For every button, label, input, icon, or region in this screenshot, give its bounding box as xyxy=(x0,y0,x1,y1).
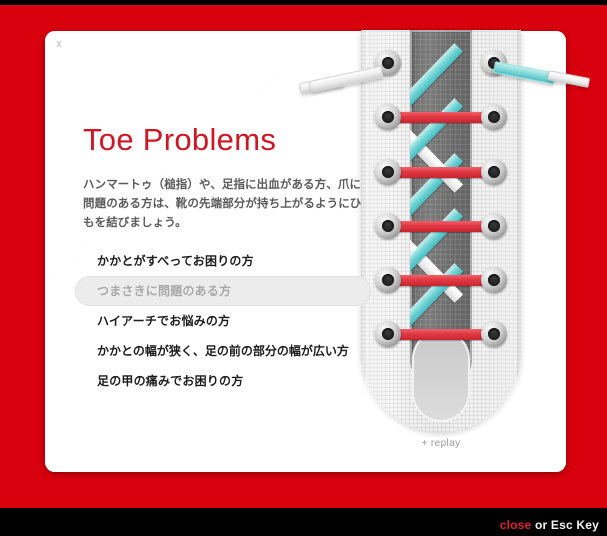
lace-diagonal-cyan-3 xyxy=(410,98,463,161)
eyelet-right-4 xyxy=(481,213,507,239)
eyelet-right-3 xyxy=(481,159,507,185)
lace-diagonal-cyan-1 xyxy=(410,43,463,106)
close-icon[interactable]: x xyxy=(50,36,68,52)
eyelet-right-5 xyxy=(481,267,507,293)
description-text: ハンマートゥ（槌指）や、足指に出血がある方、爪に問題のある方は、靴の先端部分が持… xyxy=(83,176,368,233)
eyelet-left-6 xyxy=(375,321,401,347)
menu-item-instep-pain[interactable]: 足の甲の痛みでお困りの方 xyxy=(75,366,371,396)
lace-diagonal-cyan-4 xyxy=(410,208,463,271)
menu-item-toe-problems[interactable]: つまさきに問題のある方 xyxy=(75,276,371,306)
tongue-inner-pad xyxy=(412,330,470,422)
eyelet-left-4 xyxy=(375,213,401,239)
eyelet-right-2 xyxy=(481,104,507,130)
eyelet-left-2 xyxy=(375,104,401,130)
close-hint-rest: or Esc Key xyxy=(531,518,599,532)
eyelet-right-6 xyxy=(481,321,507,347)
content-column: Toe Problems ハンマートゥ（槌指）や、足指に出血がある方、爪に問題の… xyxy=(83,122,368,233)
eyelet-left-5 xyxy=(375,267,401,293)
app-stage: x Toe Problems ハンマートゥ（槌指）や、足指に出血がある方、爪に問… xyxy=(0,0,607,536)
shoe-lacing-diagram: + replay xyxy=(361,30,521,432)
eyelet-left-3 xyxy=(375,159,401,185)
page-title: Toe Problems xyxy=(83,122,368,158)
problem-menu-list: かかとがすべってお困りの方 つまさきに問題のある方 ハイアーチでお悩みの方 かか… xyxy=(75,246,371,396)
menu-item-high-arch[interactable]: ハイアーチでお悩みの方 xyxy=(75,306,371,336)
replay-button[interactable]: + replay xyxy=(361,438,521,449)
menu-item-heel-slip[interactable]: かかとがすべってお困りの方 xyxy=(75,246,371,276)
close-hint[interactable]: close or Esc Key xyxy=(500,518,599,532)
menu-item-narrow-heel-wide-forefoot[interactable]: かかとの幅が狭く、足の前の部分の幅が広い方 xyxy=(75,336,371,366)
close-keyword[interactable]: close xyxy=(500,518,532,532)
